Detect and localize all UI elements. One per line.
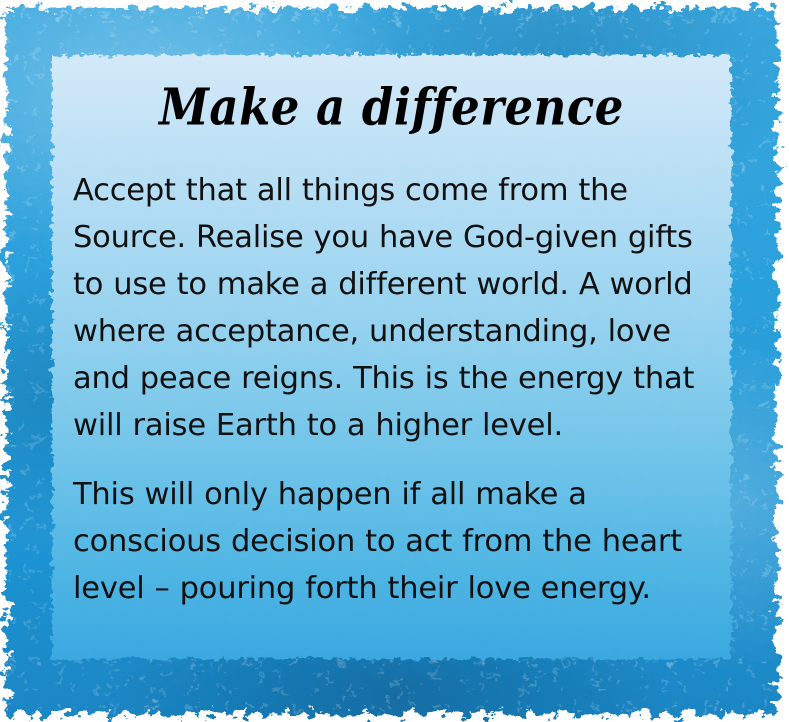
poster-canvas: Make a difference Accept that all things… — [0, 0, 789, 722]
page-title: Make a difference — [52, 81, 731, 134]
body-text-block: Accept that all things come from the Sou… — [73, 167, 731, 612]
paragraph-2: This will only happen if all make a cons… — [73, 471, 731, 612]
paragraph-1: Accept that all things come from the Sou… — [73, 167, 731, 449]
poster-content: Make a difference Accept that all things… — [52, 55, 731, 659]
